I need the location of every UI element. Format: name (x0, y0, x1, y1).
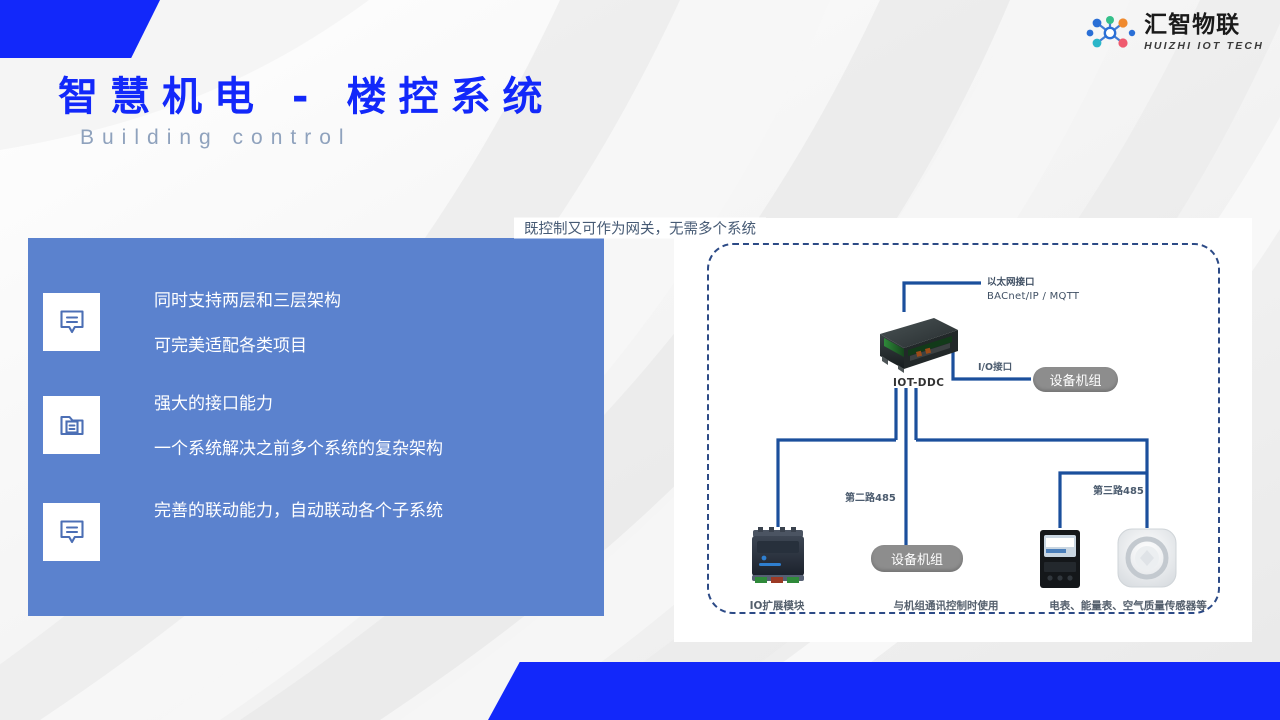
equipment-unit-pill-right: 设备机组 (1033, 367, 1118, 392)
air-quality-sensor-image (1117, 528, 1177, 588)
bus-3-485-label: 第三路485 (1093, 482, 1144, 497)
equipment-unit-pill-center: 设备机组 (871, 545, 963, 572)
caption-unit-communication: 与机组通讯控制时使用 (862, 598, 1030, 613)
ethernet-port-label-line2: BACnet/IP / MQTT (987, 290, 1079, 305)
ethernet-port-label: 以太网接口 BACnet/IP / MQTT (987, 276, 1079, 304)
bus-2-485-label: 第二路485 (845, 489, 896, 504)
io-expansion-module-image (749, 527, 807, 587)
caption-io-expansion: IO扩展模块 (722, 598, 832, 613)
io-port-label: I/O接口 (978, 359, 1012, 373)
caption-meters-sensors: 电表、能量表、空气质量传感器等 (1030, 598, 1226, 613)
electric-meter-image (1037, 528, 1083, 590)
ethernet-port-label-line1: 以太网接口 (987, 276, 1079, 290)
controller-name-label: IOT-DDC (893, 377, 944, 389)
iot-ddc-controller-image (864, 312, 960, 376)
